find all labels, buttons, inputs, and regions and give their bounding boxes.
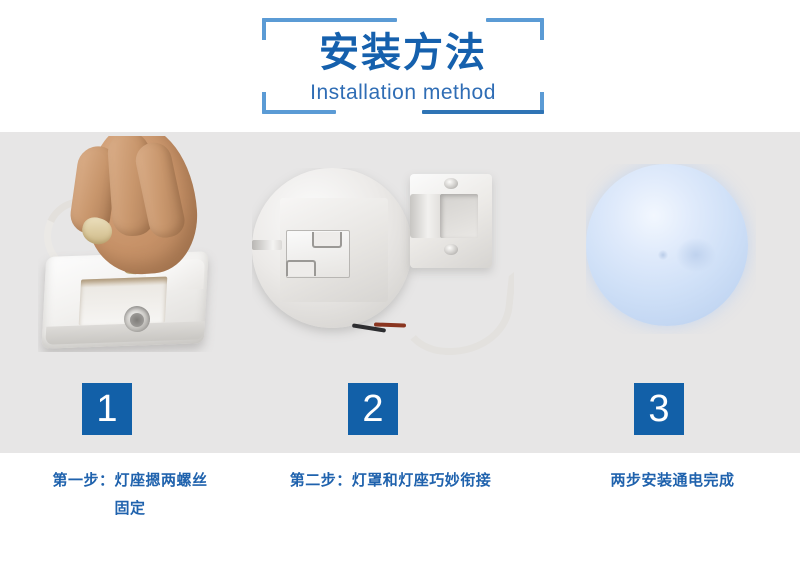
page-title: 安装方法 bbox=[262, 30, 544, 76]
step-caption-3: 两步安装通电完成 bbox=[560, 466, 785, 494]
frame-bottom-right-segment bbox=[422, 110, 544, 114]
page-header: 安装方法 Installation method bbox=[0, 0, 800, 132]
lamp-center-spot bbox=[658, 250, 668, 260]
frame-top-right-segment bbox=[486, 18, 544, 22]
title-frame: 安装方法 Installation method bbox=[262, 18, 544, 114]
mount-screw-top bbox=[444, 178, 458, 189]
lamp-base-hole-inner bbox=[130, 313, 144, 327]
step-1-photo bbox=[38, 136, 224, 352]
power-wire bbox=[397, 259, 514, 358]
step-3-photo bbox=[586, 164, 756, 334]
bracket-notch-top bbox=[312, 232, 342, 248]
step-2-photo bbox=[252, 168, 514, 358]
step-number-badge-2: 2 bbox=[348, 383, 398, 435]
step-caption-2: 第二步：灯罩和灯座巧妙衔接 bbox=[258, 466, 523, 494]
mount-base-lip bbox=[410, 194, 440, 238]
page-subtitle: Installation method bbox=[262, 80, 544, 106]
cover-edge-highlight bbox=[252, 240, 282, 250]
installation-method-page: 安装方法 Installation method bbox=[0, 0, 800, 566]
bracket-notch-bottom bbox=[286, 260, 316, 276]
illuminated-lamp bbox=[586, 164, 748, 326]
step-caption-1: 第一步：灯座摁两螺丝 固定 bbox=[20, 466, 240, 522]
step-number-badge-3: 3 bbox=[634, 383, 684, 435]
mount-screw-bottom bbox=[444, 244, 458, 255]
mount-base-cutout bbox=[440, 194, 478, 238]
frame-bottom-left-segment bbox=[262, 110, 336, 114]
frame-top-left-segment bbox=[262, 18, 397, 22]
step-number-badge-1: 1 bbox=[82, 383, 132, 435]
lamp-inner-glow bbox=[676, 238, 716, 272]
